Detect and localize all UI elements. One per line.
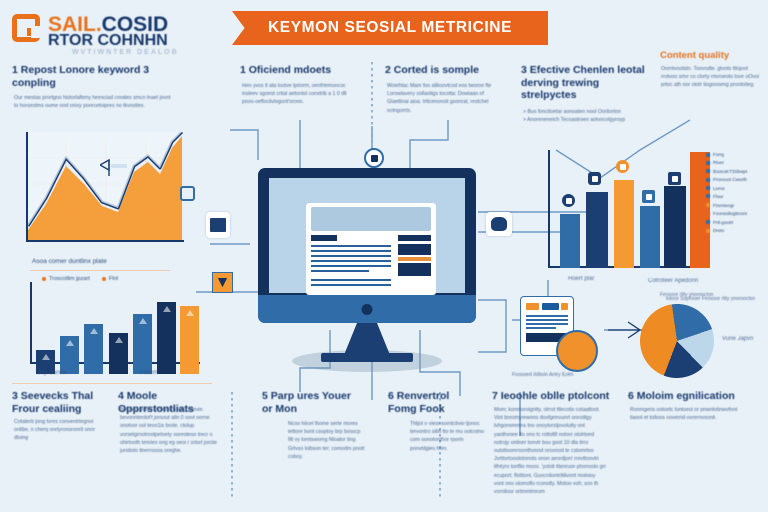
section-heading-1: 1 Repost Lonore keyword 3 conpling [12,64,182,89]
hub-node-icon [364,148,384,168]
section-number-8: 6 [628,390,634,402]
section-body-4: Bot tivo groter of thvotck oet, sonvie. … [120,406,228,455]
legend-item: Lorne [706,186,766,191]
section-title-3: Seevecks Thal Frour cealiing [12,390,93,415]
bar-chart-right-xlabel-1: Hoert plar [568,276,594,282]
small-square-node-icon [180,186,195,201]
section-number-1: 1 [12,64,18,76]
section-title-7: Ieoohle oblle ptolcont [501,390,610,402]
pin-icon [616,160,629,173]
section-heading-callout-2: 2 Corted is somple [385,64,505,77]
page-text-line [311,270,369,272]
doc-block-orange-2 [561,303,568,310]
page-sidebar-highlight [398,257,431,261]
alert-node-icon [212,272,233,293]
page-text-line [311,260,391,262]
callout-number-3: 3 [521,64,527,76]
section-number-7: 7 [492,390,498,402]
highlight-circle-icon [556,330,598,372]
legend-label: Flour [713,194,723,199]
pie-chart-label: Vune Japvn [722,336,753,342]
infographic-canvas: SAIL.COSID RTOR COHNHN WVTIWNTER DEALOB … [0,0,768,512]
callout-title-2: Corted is somple [394,64,479,76]
callout-body-1: Hen yvos tl ata lootve lpriorm, oenfrtem… [242,82,354,107]
section-heading-8: 6 Moloim egnilication [628,390,760,403]
bar-3 [614,180,634,268]
doc-block-blue [542,303,559,310]
section-number-5: 5 [262,390,268,402]
monitor-foot [321,353,413,362]
bar-7 [180,306,199,374]
page-text-line [311,265,391,267]
section-title-1: Repost Lonore keyword 3 conpling [12,64,149,89]
section-title-8: Moloim egnilication [637,390,735,402]
bar-chart-right-xlabel-2: Cotroteer Apedonn [648,276,710,286]
legend-label: BoocoKT3Sbwpt [713,169,747,174]
doc-block-orange [526,303,539,310]
cloud-icon [486,212,512,236]
logo-mark-icon [12,14,40,42]
webpage-mockup [306,203,436,295]
section-body-3: Cotaterb jong tvres conventrtegnoi onlib… [14,418,110,443]
legend-item: Forrg [706,152,766,157]
y-axis [30,282,32,364]
legend-item: Dreto [706,228,766,233]
section-heading-3: 3 Seevecks Thal Frour cealiing [12,390,112,415]
page-sidebar-title-block [398,235,431,241]
page-sidebar-block [398,244,431,255]
legend-item: Flour [706,194,766,199]
legend-label: Dreto [713,228,724,233]
callout-title-1: Oficiend mdoets [249,64,331,76]
callout-body-3: > Bus fonctloetar aonoaten nool Ooritort… [523,108,645,124]
page-text-line [311,279,391,281]
pin-icon [668,172,681,185]
legend-swatch-icon [102,277,106,281]
pie-chart-toplabel: Feoxoor rlity ynorooctsn [660,292,760,298]
logo-line-2: RTOR COHNHN [48,32,168,50]
section-heading-callout-1: 1 Oficiend mdoets [240,64,360,77]
doc-card-caption: Fooooed rlditoln Antry Eolm [512,372,573,378]
bar-2 [60,336,79,374]
area-chart-left [14,132,186,250]
callout-title-3: Efective Chenlen leotal derving trewing … [521,64,645,101]
caption-divider [30,270,170,271]
area-chart-caption: Asoa comer duntlinx plate [32,258,107,265]
page-text-line [311,284,391,286]
page-sidebar-block [398,263,431,276]
legend-label: Forrg [713,152,724,157]
crown-icon [588,172,601,185]
area-chart-svg [14,132,186,244]
page-hero-block [311,207,431,231]
page-title-block [311,235,337,241]
section-number-4: 4 [118,390,124,402]
section-heading-5: 5 Parp ures Youer or Mon [262,390,358,415]
legend-label: Prtl-gootrt [713,220,733,225]
y-axis [548,150,550,268]
section-body-8: Ronmgeris ootoelc lontoeoi or pnwnlotinw… [630,406,746,422]
section-number-6: 6 [388,390,394,402]
bar-5 [664,186,686,268]
content-quality-title: Content quality [660,50,764,61]
bar-3 [84,324,103,374]
section-body-6: Thtjot o viesr sorntcitvio tjonoc tervon… [410,420,486,453]
section-heading-callout-3: 3 Efective Chenlen leotal derving trewin… [521,64,647,102]
bar-chart-left [14,282,204,374]
legend-label: Provvuot Cworth [713,177,747,182]
section-title-6: Renvertrol Fomg Fook [388,390,449,415]
bar-5 [133,314,152,374]
chart-flag-icon [100,158,130,183]
bar-chart-left-xlabel-1: Ooy Carem [36,370,67,376]
callout-number-2: 2 [385,64,391,76]
legend-item: Prtl-gootrt [706,220,766,225]
legend-label: Foonsoliogttoont [713,211,747,216]
legend-item: Foonsoliogttoont [706,211,766,216]
banner-ribbon: KEYMON SEOSIAL METRICINE [232,11,548,45]
bar-4 [109,333,128,374]
legend-item: Rtver [706,160,766,165]
legend-item: BoocoKT3Sbwpt [706,169,766,174]
page-text-line [311,245,391,247]
bar-chart-divider [12,383,212,384]
website-mockup-monitor [258,168,476,323]
bar-6 [157,302,176,374]
bar-chart-left-xlabel-2: Piowm [140,370,158,376]
pie-chart-right [635,299,719,383]
monitor-base [258,295,476,323]
report-icon [206,212,230,238]
section-body-7: Mom; konntoroigntty, olrrot ttlecotis co… [494,406,606,496]
bar-1 [560,214,580,268]
legend-item: Provvuot Cworth [706,177,766,182]
banner-title: KEYMON SEOSIAL METRICINE [232,11,548,45]
badge-icon [562,194,575,207]
callout-body-2: Woiehtac Mam foo alilioovtcod eos tworoe… [387,82,503,115]
bar-chart-right [548,150,698,270]
monitor-bezel [258,168,476,323]
logo-tagline: WVTIWNTER DEALOB [72,49,179,56]
legend-label: Rtver [713,160,724,165]
content-quality-body: Oorntvootstn. Toovodte. gtvots ttlojoot … [661,65,761,90]
callout-number-1: 1 [240,64,246,76]
monitor-power-knob [362,304,373,315]
brand-logo: SAIL.COSID RTOR COHNHN WVTIWNTER DEALOB [12,8,202,56]
section-title-5: Parp ures Youer or Mon [262,390,351,415]
bar-2 [586,192,608,268]
legend-label: Lorne [713,186,725,191]
page-text-line [311,255,391,257]
legend-item: Ftrenteogr [706,203,766,208]
monitor-neck [344,321,390,355]
section-heading-6: 6 Renvertrol Fomg Fook [388,390,480,415]
bar-4 [640,206,660,268]
pin-icon [642,190,655,203]
legend-label: Ftrenteogr [713,203,734,208]
section-heading-7: 7 Ieoohle oblle ptolcont [492,390,612,403]
section-body-1: Our mestas prortgno historlafteny heesci… [14,94,176,110]
bar-chart-right-legend: Forrg Rtver BoocoKT3Sbwpt Provvuot Cwort… [706,152,766,237]
section-body-5: Ncoo hiicel lhome serte mores tettore bo… [288,420,366,461]
legend-swatch-icon [42,277,46,281]
section-number-3: 3 [12,390,18,402]
monitor-screen [269,178,465,293]
page-text-line [311,250,391,252]
